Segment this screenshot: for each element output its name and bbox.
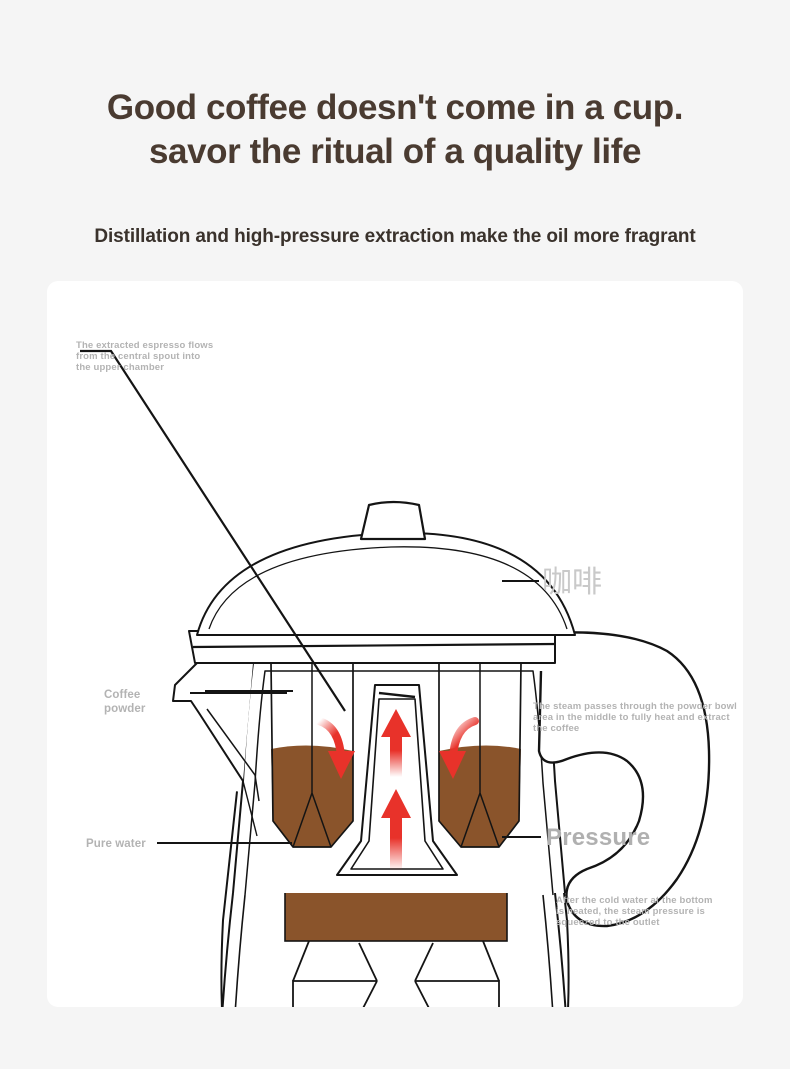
page-subtitle: Distillation and high-pressure extractio… [0, 226, 790, 248]
annotation-steam-passes: The steam passes through the powder bowl… [533, 701, 778, 735]
headline-line-2: savor the ritual of a quality life [0, 130, 790, 174]
annotation-pure-water: Pure water [86, 838, 196, 852]
annotation-pressure: Pressure [546, 824, 650, 852]
annotation-coffee-powder: Coffee powder [104, 689, 194, 716]
page-title: Good coffee doesn't come in a cup. savor… [0, 86, 790, 175]
annotation-espresso-flow: The extracted espresso flows from the ce… [76, 340, 266, 374]
pot-lid [197, 502, 575, 635]
lid-knob [361, 502, 425, 539]
promo-page: Good coffee doesn't come in a cup. savor… [0, 0, 790, 1069]
annotation-outlet: After the cold water at the bottom is he… [556, 895, 781, 929]
annotation-coffee-chinese: 咖啡 [542, 565, 602, 600]
headline-line-1: Good coffee doesn't come in a cup. [0, 86, 790, 130]
